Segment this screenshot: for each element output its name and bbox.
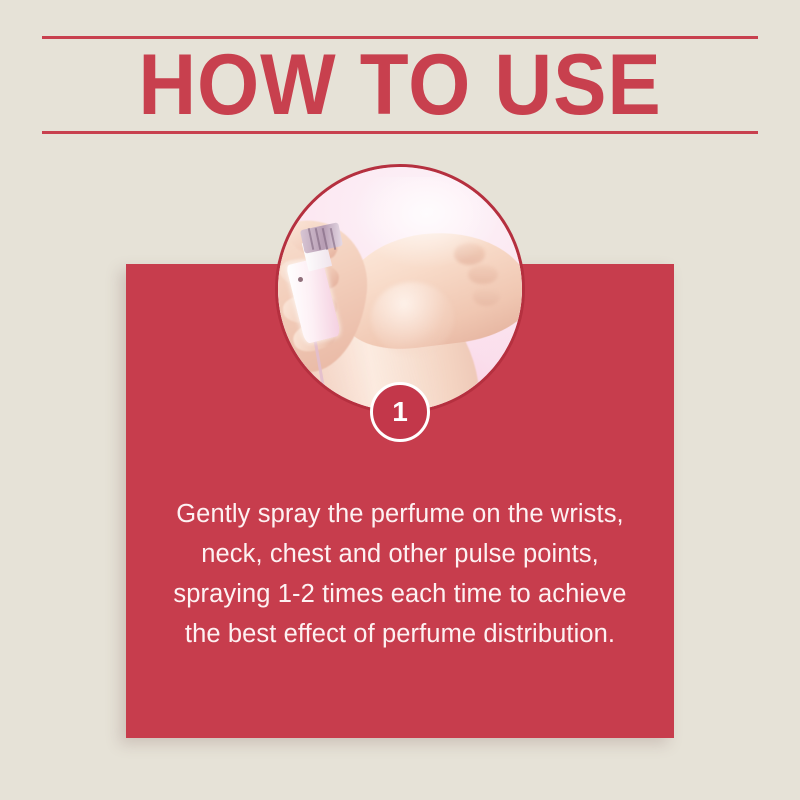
- thumb-web-highlight: [371, 282, 454, 355]
- photo-highlight: [351, 177, 502, 270]
- header: HOW TO USE: [42, 36, 758, 134]
- how-to-use-poster: HOW TO USE: [0, 0, 800, 800]
- step-description: Gently spray the perfume on the wrists, …: [160, 494, 640, 654]
- page-title: HOW TO USE: [67, 36, 733, 134]
- step-number-badge: 1: [370, 382, 430, 442]
- photo-image: [278, 167, 522, 411]
- title-rule-bottom: [42, 131, 758, 134]
- step-photo: [275, 164, 525, 414]
- step-number-label: 1: [392, 398, 408, 426]
- knuckle-highlight: [473, 287, 500, 307]
- spray-nozzle-icon: [298, 277, 303, 282]
